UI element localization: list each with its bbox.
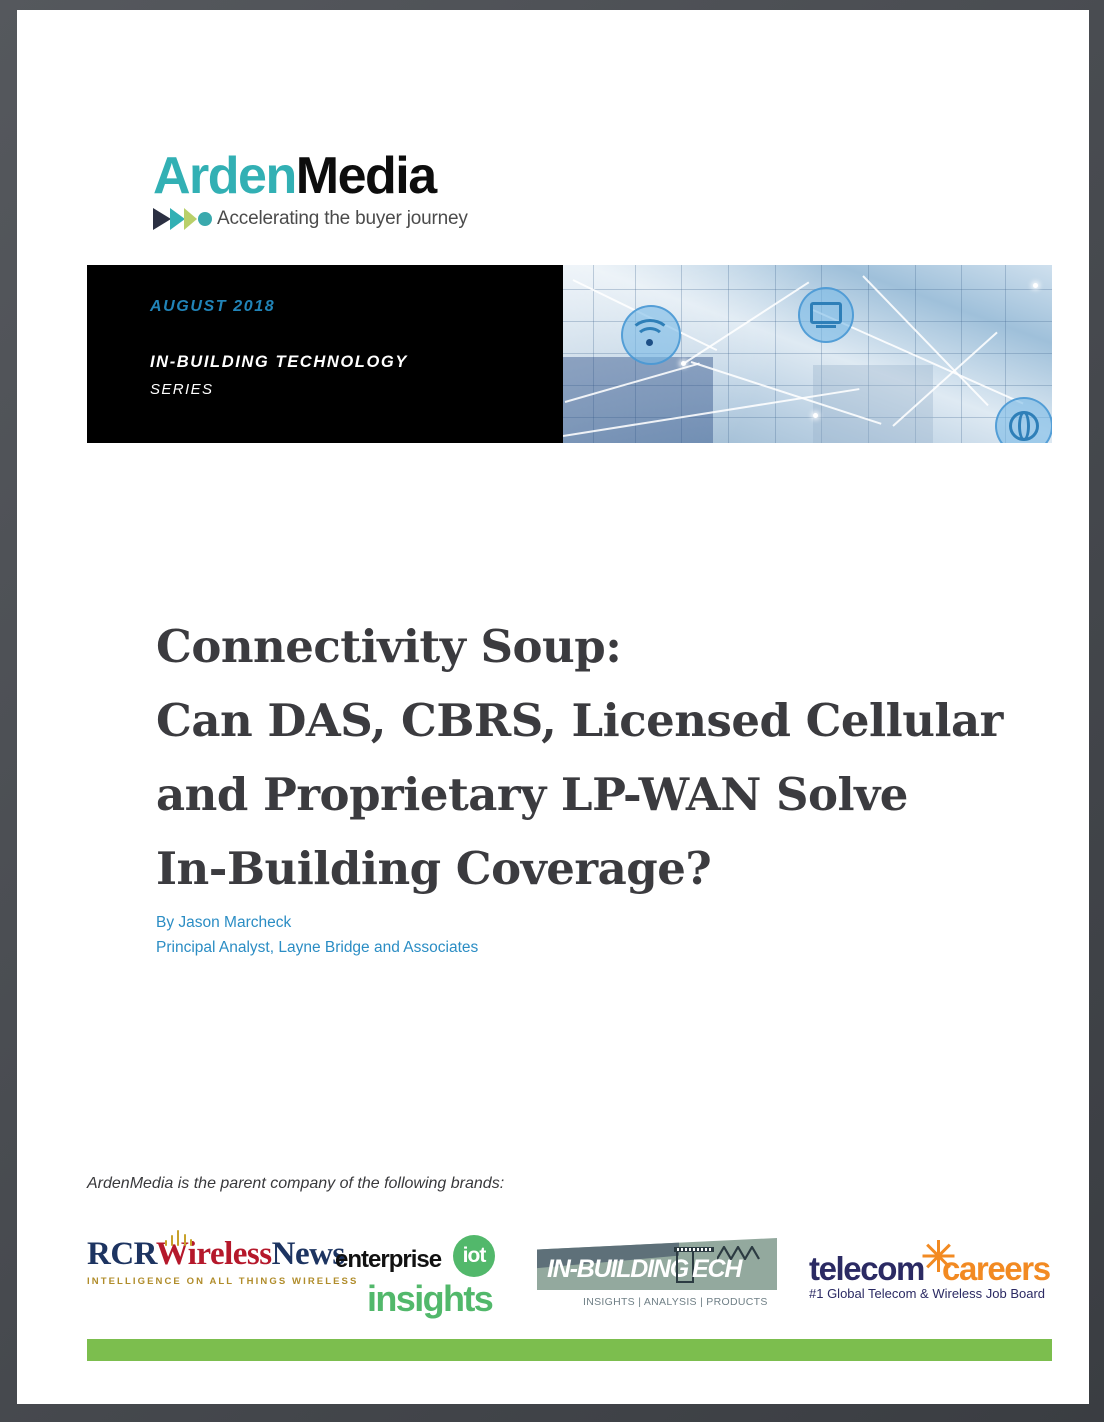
tc-part-careers: careers (942, 1250, 1050, 1288)
ardenmedia-tagline-row: Accelerating the buyer journey (153, 206, 473, 232)
circle-teal-icon (198, 212, 212, 226)
banner-building-block (563, 357, 713, 443)
ibt-zigzag-icon (717, 1246, 761, 1260)
banner-date: AUGUST 2018 (150, 298, 275, 316)
ardenmedia-wordmark: ArdenMedia (153, 148, 473, 204)
rcr-tagline: INTELLIGENCE ON ALL THINGS WIRELESS (87, 1276, 327, 1287)
title-line-4: In-Building Coverage? (156, 842, 711, 895)
eiot-part-enterprise: enterprise (335, 1246, 441, 1274)
brand-logo-row: RCRWirelessNews INTELLIGENCE ON ALL THIN… (87, 1238, 1052, 1324)
tc-tagline: #1 Global Telecom & Wireless Job Board (809, 1286, 1054, 1301)
series-banner: AUGUST 2018 IN-BUILDING TECHNOLOGY SERIE… (87, 265, 1052, 443)
title-line-1: Connectivity Soup: (156, 620, 621, 673)
ardenmedia-tagline: Accelerating the buyer journey (217, 208, 468, 230)
title-line-3: and Proprietary LP-WAN Solve (156, 768, 908, 821)
banner-series-subtitle: SERIES (150, 381, 213, 398)
eiot-top-row: enterprise iot (335, 1242, 525, 1270)
byline: By Jason Marcheck Principal Analyst, Lay… (156, 910, 478, 960)
globe-node-icon (995, 397, 1052, 443)
eiot-part-insights: insights (367, 1278, 525, 1320)
rcr-part-rcr: RCR (87, 1236, 156, 1272)
arrow-teal-icon (170, 208, 185, 230)
ibt-part-in-building: IN-BUILDING (547, 1255, 688, 1284)
eiot-part-iot: iot (453, 1235, 495, 1277)
footer-green-bar (87, 1339, 1052, 1361)
wifi-node-icon (621, 305, 681, 365)
banner-text-panel: AUGUST 2018 IN-BUILDING TECHNOLOGY SERIE… (87, 265, 563, 443)
rcr-part-news: News (272, 1236, 345, 1272)
rcr-wordmark: RCRWirelessNews (87, 1238, 327, 1271)
triple-arrow-icon (153, 208, 213, 230)
ibt-banner: IN-BUILDING ECH (537, 1238, 777, 1290)
document-page: ArdenMedia Accelerating the buyer journe… (17, 10, 1089, 1404)
logo-word-arden: Arden (153, 147, 296, 205)
byline-author: By Jason Marcheck (156, 910, 478, 935)
ibt-crane-icon (674, 1247, 714, 1252)
brands-note: ArdenMedia is the parent company of the … (87, 1175, 504, 1193)
signal-wave-icon (165, 1228, 199, 1246)
brand-logo-rcr-wireless-news[interactable]: RCRWirelessNews INTELLIGENCE ON ALL THIN… (87, 1238, 327, 1287)
tc-wordmark: telecom careers (809, 1238, 1054, 1284)
brand-logo-telecom-careers[interactable]: telecom careers #1 Global Telecom & Wire… (809, 1238, 1054, 1301)
byline-role: Principal Analyst, Layne Bridge and Asso… (156, 935, 478, 960)
page-frame: ArdenMedia Accelerating the buyer journe… (0, 0, 1104, 1422)
banner-photo (563, 265, 1052, 443)
brand-logo-enterprise-iot-insights[interactable]: enterprise iot insights (335, 1238, 525, 1320)
arrow-navy-icon (153, 208, 171, 230)
tc-part-telecom: telecom (809, 1250, 924, 1288)
ardenmedia-logo: ArdenMedia Accelerating the buyer journe… (153, 148, 473, 236)
title-line-2: Can DAS, CBRS, Licensed Cellular (156, 694, 1003, 747)
logo-word-media: Media (296, 147, 436, 205)
arrow-green-icon (184, 208, 197, 230)
ibt-tagline: INSIGHTS | ANALYSIS | PRODUCTS (583, 1296, 787, 1308)
banner-series-title: IN-BUILDING TECHNOLOGY (150, 353, 408, 372)
brand-logo-in-building-tech[interactable]: IN-BUILDING ECH INSIGHTS | ANALYSIS | PR… (537, 1238, 787, 1308)
document-title: Connectivity Soup: Can DAS, CBRS, Licens… (156, 610, 1036, 906)
monitor-node-icon (798, 287, 854, 343)
